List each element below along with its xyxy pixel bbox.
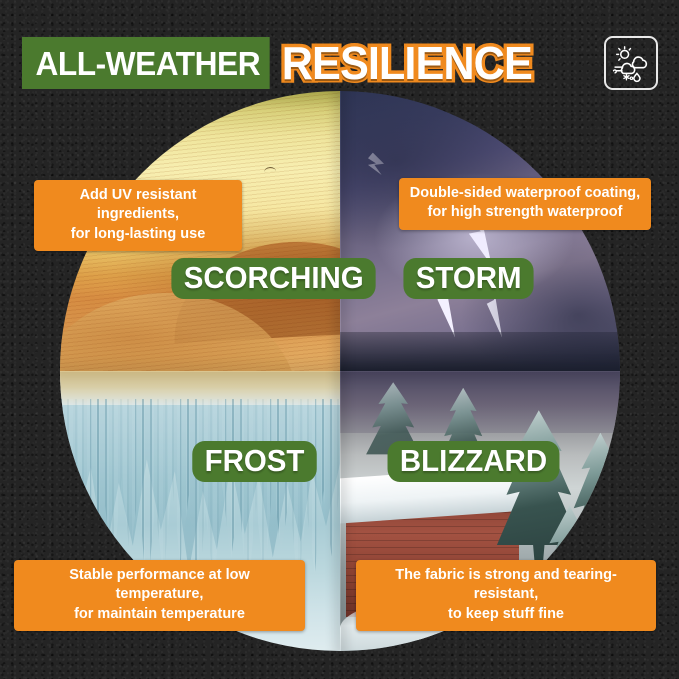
caption-line: Double-sided waterproof coating, <box>409 184 641 203</box>
caption-line: The fabric is strong and tearing-resista… <box>366 566 646 605</box>
sand-dune-near <box>60 293 298 371</box>
storm-horizon <box>340 332 620 371</box>
caption-line: for high strength waterproof <box>409 203 641 222</box>
label-storm: STORM <box>403 258 534 299</box>
page-title: RESILIENCE <box>278 40 536 86</box>
caption-line: for long-lasting use <box>44 225 232 244</box>
lightning-bolt-small-icon <box>368 153 384 175</box>
header-badge-all-weather: ALL-WEATHER <box>22 37 270 89</box>
caption-storm: Double-sided waterproof coating, for hig… <box>399 178 651 230</box>
quadrant-divider-horizontal <box>60 371 620 372</box>
label-frost: FROST <box>192 441 317 482</box>
label-blizzard: BLIZZARD <box>388 441 560 482</box>
caption-frost: Stable performance at low temperature, f… <box>14 560 305 631</box>
label-scorching: SCORCHING <box>171 258 376 299</box>
caption-line: Stable performance at low temperature, <box>24 566 295 605</box>
caption-scorching: Add UV resistant ingredients, for long-l… <box>34 180 242 251</box>
caption-line: to keep stuff fine <box>366 605 646 624</box>
quadrant-storm-scene <box>340 91 620 371</box>
bird-silhouette-icon <box>264 166 276 172</box>
infographic-canvas: ALL-WEATHER RESILIENCE <box>0 0 679 679</box>
weather-mixed-icon <box>604 36 658 90</box>
caption-blizzard: The fabric is strong and tearing-resista… <box>356 560 656 631</box>
caption-line: for maintain temperature <box>24 605 295 624</box>
caption-line: Add UV resistant ingredients, <box>44 186 232 225</box>
header-banner: ALL-WEATHER RESILIENCE <box>22 32 658 94</box>
